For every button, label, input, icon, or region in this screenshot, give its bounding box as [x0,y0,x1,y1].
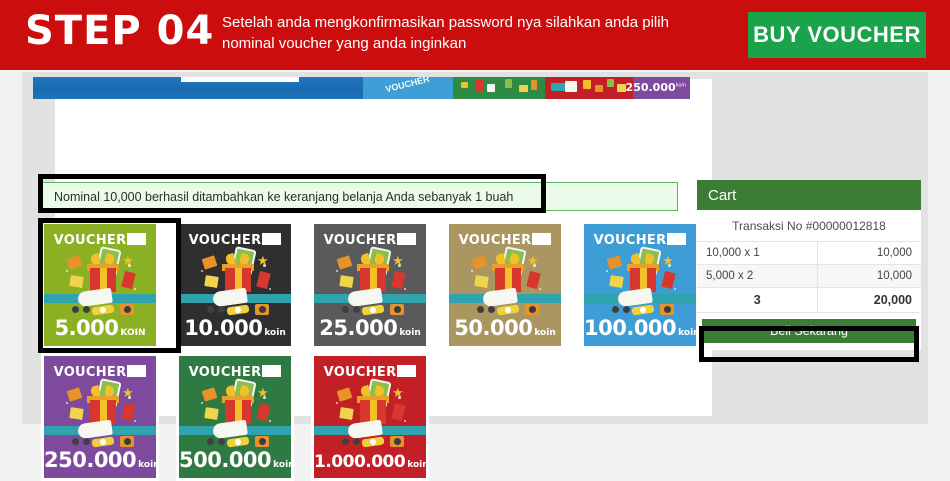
logo-88-icon [667,233,686,245]
illus-card-red [661,271,676,289]
logo-88-icon [397,233,416,245]
voucher-amount: 100.000koin [584,316,696,340]
illus-card-red [121,271,136,289]
illus-card-orange [202,387,218,401]
illus-watch-icon [362,305,385,316]
voucher-card-1000000[interactable]: VOUCHER★1.000.000koin [311,353,429,481]
voucher-brand-logo: VOUCHER [179,233,291,248]
voucher-amount: 250.000koin [44,448,156,472]
voucher-card-5000[interactable]: VOUCHER★5.000KOIN [41,221,159,349]
illus-glasses-icon [207,438,225,445]
illus-camera-icon [660,304,674,315]
illus-card-yellow [204,275,218,288]
cart-table: 10,000 x 110,0005,000 x 210,000320,000 [697,241,921,313]
illus-card-red [526,271,541,289]
illus-card-orange [67,255,83,269]
banner-illustration-red [545,77,633,99]
cart-success-alert: Nominal 10,000 berhasil ditambahkan ke k… [41,182,678,211]
illus-glasses-icon [477,306,495,313]
voucher-amount: 5.000KOIN [44,316,156,340]
voucher-brand-logo: VOUCHER [179,365,291,380]
alert-message: Nominal 10,000 berhasil ditambahkan ke k… [42,190,513,204]
logo-88-icon [127,233,146,245]
voucher-amount: 10.000koin [179,316,291,340]
illus-camera-icon [390,436,404,447]
illus-watch-icon [92,437,115,448]
illus-camera-icon [390,304,404,315]
voucher-card-50000[interactable]: VOUCHER★50.000koin [446,221,564,349]
cart-row-label: 5,000 x 2 [697,265,818,288]
illus-card-red [391,271,406,289]
logo-88-icon [532,233,551,245]
voucher-card-10000[interactable]: VOUCHER★10.000koin [176,221,294,349]
voucher-brand-logo: VOUCHER [449,233,561,248]
illus-card-red [256,271,271,289]
cart-row-value: 10,000 [818,265,921,288]
voucher-amount: 25.000koin [314,316,426,340]
cart-row-label: 10,000 x 1 [697,242,818,265]
cart-transaction-number: Transaksi No #00000012818 [697,210,921,241]
illus-camera-icon [255,304,269,315]
voucher-brand-logo: VOUCHER [584,233,696,248]
logo-88-icon [262,233,281,245]
illus-card-orange [607,255,623,269]
banner-illustration-green [453,77,545,99]
illus-card-yellow [69,407,83,420]
banner-unit: koin [676,82,686,88]
illus-card-red [256,403,271,421]
illus-watch-icon [497,305,520,316]
illus-card-yellow [339,407,353,420]
cart-total-row: 320,000 [697,288,921,313]
voucher-card-art: VOUCHER★50.000koin [449,224,561,346]
illus-watch-icon [92,305,115,316]
step-label: STEP 04 [25,8,214,54]
illus-card-orange [472,255,488,269]
logo-88-icon [127,365,146,377]
illus-glasses-icon [207,306,225,313]
illus-card-yellow [204,407,218,420]
voucher-amount: 500.000koin [179,448,291,472]
cart-row: 10,000 x 110,000 [697,242,921,265]
cart-row: 5,000 x 210,000 [697,265,921,288]
illus-card-yellow [609,275,623,288]
illus-glasses-icon [342,306,360,313]
cart-row-value: 10,000 [818,242,921,265]
illus-card-yellow [69,275,83,288]
illus-watch-icon [227,305,250,316]
illus-glasses-icon [72,438,90,445]
illus-card-yellow [474,275,488,288]
step-header: STEP 04 Setelah anda mengkonfirmasikan p… [0,0,950,70]
buy-voucher-button[interactable]: BUY VOUCHER [748,12,926,58]
illus-card-orange [202,255,218,269]
promo-banner-strip[interactable]: VOUCHER 250.000koin [33,77,690,99]
voucher-amount: 1.000.000koin [314,452,426,472]
illus-glasses-icon [342,438,360,445]
voucher-brand-logo: VOUCHER [44,233,156,248]
banner-amount-badge: 250.000koin [633,77,690,99]
logo-88-icon [262,365,281,377]
illus-camera-icon [255,436,269,447]
cart-title: Cart [697,180,921,210]
page-body: VOUCHER 250.000koin [0,70,950,436]
illus-card-orange [337,255,353,269]
page-root: STEP 04 Setelah anda mengkonfirmasikan p… [0,0,950,436]
illus-watch-icon [632,305,655,316]
voucher-card-100000[interactable]: VOUCHER★100.000koin [581,221,699,349]
cart-total-value: 20,000 [818,288,921,313]
illus-card-orange [337,387,353,401]
step-description: Setelah anda mengkonfirmasikan password … [222,12,722,54]
voucher-card-25000[interactable]: VOUCHER★25.000koin [311,221,429,349]
logo-88-icon [397,365,416,377]
cart-panel: Cart Transaksi No #00000012818 10,000 x … [697,180,921,350]
illus-glasses-icon [612,306,630,313]
banner-dots [181,77,299,82]
cart-total-qty: 3 [697,288,818,313]
beli-sekarang-button[interactable]: Beli Sekarang [702,319,916,343]
voucher-amount: 50.000koin [449,316,561,340]
illus-glasses-icon [72,306,90,313]
voucher-card-art: VOUCHER★250.000koin [44,356,156,478]
illus-watch-icon [362,437,385,448]
illus-camera-icon [120,304,134,315]
illus-card-red [391,403,406,421]
voucher-card-art: VOUCHER★5.000KOIN [44,224,156,346]
voucher-card-500000[interactable]: VOUCHER★500.000koin [176,353,294,481]
illus-watch-icon [227,437,250,448]
voucher-brand-logo: VOUCHER [314,233,426,248]
illus-card-yellow [339,275,353,288]
banner-amount: 250.000koin [626,81,686,94]
voucher-card-art: VOUCHER★100.000koin [584,224,696,346]
voucher-card-art: VOUCHER★25.000koin [314,224,426,346]
voucher-card-art: VOUCHER★500.000koin [179,356,291,478]
illus-camera-icon [120,436,134,447]
illus-card-red [121,403,136,421]
voucher-brand-logo: VOUCHER [44,365,156,380]
voucher-card-250000[interactable]: VOUCHER★250.000koin [41,353,159,481]
illus-card-orange [67,387,83,401]
illus-camera-icon [525,304,539,315]
voucher-brand-logo: VOUCHER [314,365,426,380]
voucher-card-art: VOUCHER★1.000.000koin [314,356,426,478]
voucher-card-art: VOUCHER★10.000koin [179,224,291,346]
